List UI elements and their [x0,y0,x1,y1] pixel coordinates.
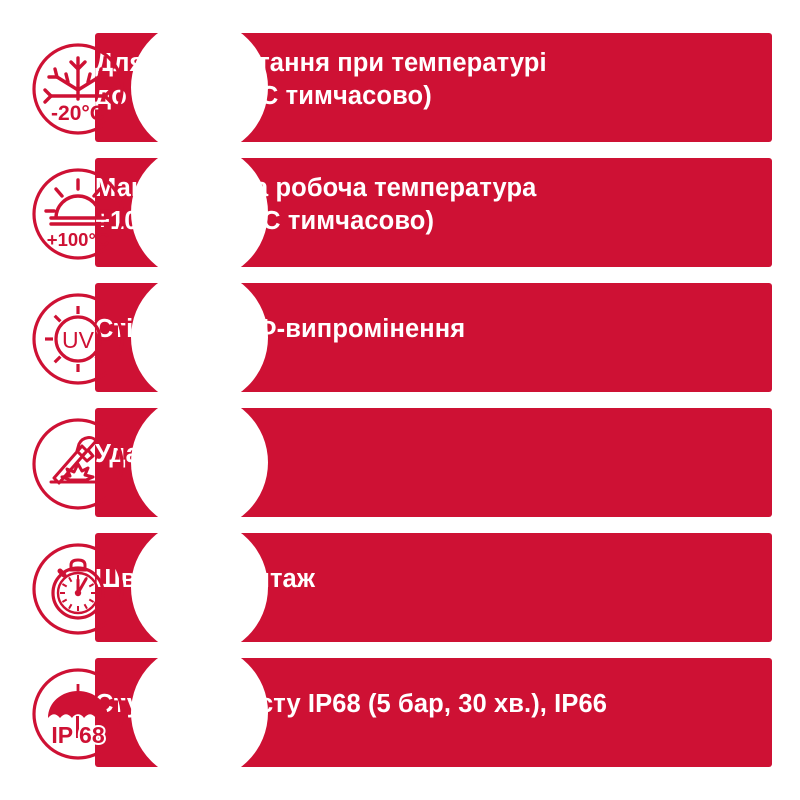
feature-row: Ступінь захисту IP68 (5 бар, 30 хв.), IP… [0,650,800,775]
feature-list: Для використання при температурі до -20˚… [0,0,800,800]
feature-label: Максимальна робоча температура +100˚С (+… [95,150,665,259]
badge-text: IP 68 [51,722,104,748]
feature-row: Для використання при температурі до -20˚… [0,25,800,150]
feature-row: Швидкий монтаж [0,525,800,650]
umbrella-ip68-icon: IP 68 [30,666,126,762]
feature-row: Максимальна робоча температура +100˚С (+… [0,150,800,275]
feature-row: Ударостійкий [0,400,800,525]
sun-heat-icon: +100°C [30,166,126,262]
snowflake-icon: -20°C [30,41,126,137]
badge-text: -20°C [51,102,105,125]
hammer-impact-icon [30,416,126,512]
feature-label: Стійкий до УФ-випромінення [95,275,665,384]
feature-label: Для використання при температурі до -20˚… [95,25,665,134]
badge-text: UV [62,327,95,353]
feature-label: Швидкий монтаж [95,525,665,634]
stopwatch-icon [30,541,126,637]
feature-label: Ступінь захисту IP68 (5 бар, 30 хв.), IP… [95,650,665,759]
badge-text: +100°C [47,229,109,250]
uv-sun-icon: UV [30,291,126,387]
feature-label: Ударостійкий [95,400,665,509]
feature-row: Стійкий до УФ-випромінення UV [0,275,800,400]
